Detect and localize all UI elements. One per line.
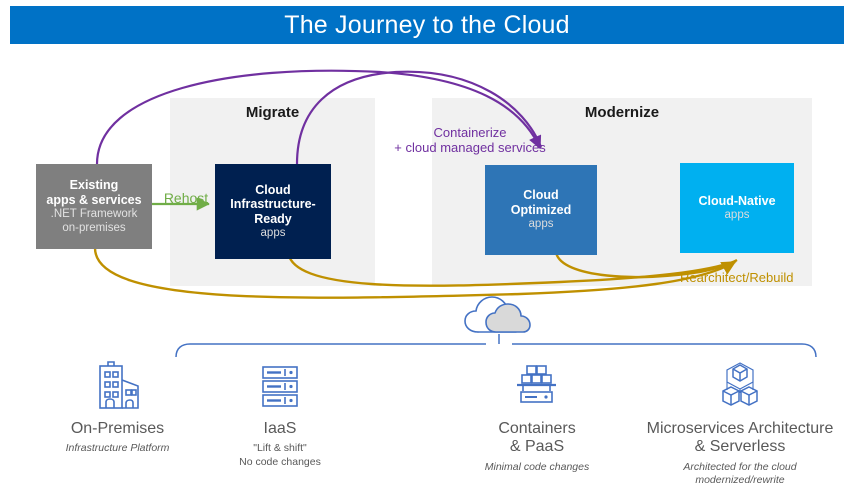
stage-box-title: Existing apps & services	[46, 178, 141, 207]
taxonomy-title: On-Premises	[20, 420, 215, 438]
stage-box-title: Cloud-Native	[698, 194, 775, 209]
stage-box-cloud-infrastructure-ready[interactable]: Cloud Infrastructure- Ready apps	[215, 164, 331, 259]
taxonomy-title: Microservices Architecture & Serverless	[630, 420, 850, 457]
stage-box-subtitle: apps	[261, 227, 286, 240]
taxonomy-title: Containers & PaaS	[452, 420, 622, 457]
taxonomy-subtitle: Architected for the cloud modernized/rew…	[630, 461, 850, 487]
stage-box-title: Cloud Optimized	[511, 188, 571, 217]
transition-label-rehost: Rehost	[156, 190, 216, 207]
building-icon	[20, 358, 215, 412]
phase-label-modernize: Modernize	[432, 104, 812, 121]
cloud-bracket	[176, 334, 816, 357]
phase-label-migrate: Migrate	[170, 104, 375, 121]
taxonomy-subtitle: Minimal code changes	[452, 461, 622, 474]
stage-box-subtitle: .NET Framework on-premises	[51, 208, 138, 235]
transition-label-containerize: Containerize + cloud managed services	[380, 125, 560, 156]
server-rack-icon	[190, 358, 370, 412]
taxonomy-subtitle: "Lift & shift" No code changes	[190, 442, 370, 468]
stage-box-subtitle: apps	[529, 218, 554, 231]
containers-icon	[452, 358, 622, 412]
stage-box-cloud-optimized[interactable]: Cloud Optimized apps	[485, 165, 597, 255]
stage-box-title: Cloud Infrastructure- Ready	[230, 183, 315, 227]
taxonomy-item-containers-paas: Containers & PaaS Minimal code changes	[452, 358, 622, 474]
stage-box-cloud-native[interactable]: Cloud-Native apps	[680, 163, 794, 253]
diagram-stage: Migrate Modernize	[0, 0, 854, 478]
taxonomy-item-microservices-serverless: Microservices Architecture & Serverless …	[630, 358, 850, 487]
taxonomy-title: IaaS	[190, 420, 370, 438]
taxonomy-subtitle: Infrastructure Platform	[20, 442, 215, 455]
stage-box-existing-apps[interactable]: Existing apps & services .NET Framework …	[36, 164, 152, 249]
cloud-icon	[465, 297, 530, 332]
stage-box-subtitle: apps	[725, 209, 750, 222]
taxonomy-item-iaas: IaaS "Lift & shift" No code changes	[190, 358, 370, 469]
taxonomy-item-on-premises: On-Premises Infrastructure Platform	[20, 358, 215, 456]
transition-label-rearchitect: Rearchitect/Rebuild	[680, 270, 830, 285]
microservices-cube-icon	[630, 358, 850, 412]
